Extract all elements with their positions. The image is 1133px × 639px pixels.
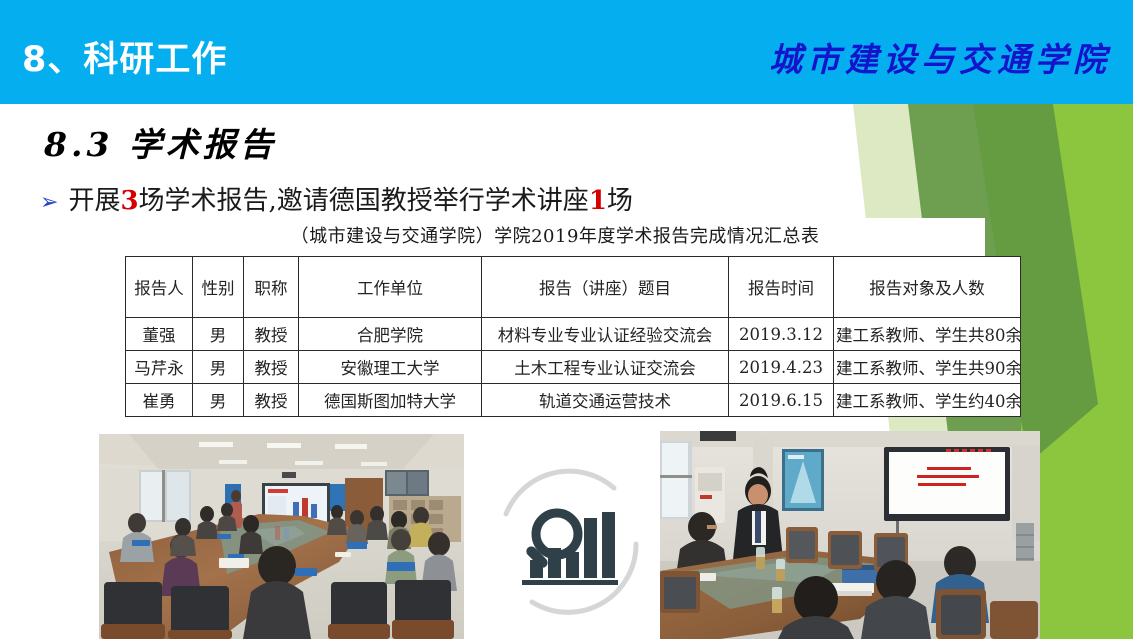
section-heading: 8.3 学术报告 [44,118,277,166]
table-row: 崔勇 男 教授 德国斯图加特大学 轨道交通运营技术 2019.6.15 建工系教… [126,384,1021,417]
cell-topic: 材料专业专业认证经验交流会 [482,318,729,351]
organization-name: 城市建设与交通学院 [769,33,1111,81]
header-cell-date: 报告时间 [729,257,834,318]
cell-date: 2019.6.15 [729,384,834,417]
bar-chart-magnifier-icon [484,456,654,626]
cell-name: 崔勇 [126,384,193,417]
cell-audience: 建工系教师、学生约40余人 [834,384,1021,417]
cell-sex: 男 [193,384,244,417]
header-cell-name: 报告人 [126,257,193,318]
bullet-suffix: 场 [607,186,633,216]
cell-rank: 教授 [244,351,299,384]
cell-topic: 土木工程专业认证交流会 [482,351,729,384]
header-cell-topic: 报告（讲座）题目 [482,257,729,318]
header-cell-audience: 报告对象及人数 [834,257,1021,318]
cell-name: 董强 [126,318,193,351]
cell-unit: 安徽理工大学 [299,351,482,384]
conference-room-audience-photo [99,434,464,639]
bullet-line: ➢ 开展3场学术报告,邀请德国教授举行学术讲座1场 [40,180,633,217]
cell-audience: 建工系教师、学生共80余人 [834,318,1021,351]
cell-rank: 教授 [244,384,299,417]
cell-unit: 德国斯图加特大学 [299,384,482,417]
bullet-text: 开展3场学术报告,邀请德国教授举行学术讲座1场 [68,180,632,217]
cell-date: 2019.3.12 [729,318,834,351]
cell-name: 马芹永 [126,351,193,384]
table-row: 马芹永 男 教授 安徽理工大学 土木工程专业认证交流会 2019.4.23 建工… [126,351,1021,384]
lecture-count: 3 [120,186,138,216]
header-cell-rank: 职称 [244,257,299,318]
bullet-middle: 场学术报告,邀请德国教授举行学术讲座 [139,186,589,216]
report-table-panel: （城市建设与交通学院）学院2019年度学术报告完成情况汇总表 报告人 性别 职称… [125,218,985,417]
page-title: 8、科研工作 [22,31,227,82]
header-cell-unit: 工作单位 [299,257,482,318]
cell-rank: 教授 [244,318,299,351]
bullet-prefix: 开展 [68,186,120,216]
cell-unit: 合肥学院 [299,318,482,351]
seminar-count: 1 [589,186,607,216]
table-header-row: 报告人 性别 职称 工作单位 报告（讲座）题目 报告时间 报告对象及人数 [126,257,1021,318]
table-row: 董强 男 教授 合肥学院 材料专业专业认证经验交流会 2019.3.12 建工系… [126,318,1021,351]
cell-audience: 建工系教师、学生共90余人 [834,351,1021,384]
cell-date: 2019.4.23 [729,351,834,384]
academic-report-table: 报告人 性别 职称 工作单位 报告（讲座）题目 报告时间 报告对象及人数 董强 … [125,256,1021,417]
speaker-presentation-photo [660,431,1040,639]
header-cell-sex: 性别 [193,257,244,318]
cell-topic: 轨道交通运营技术 [482,384,729,417]
slide-canvas: 8、科研工作 城市建设与交通学院 8.3 学术报告 ➢ 开展3场学术报告,邀请德… [0,0,1133,639]
cell-sex: 男 [193,318,244,351]
cell-sex: 男 [193,351,244,384]
arrow-bullet-icon: ➢ [40,192,58,214]
table-caption: （城市建设与交通学院）学院2019年度学术报告完成情况汇总表 [125,218,985,256]
